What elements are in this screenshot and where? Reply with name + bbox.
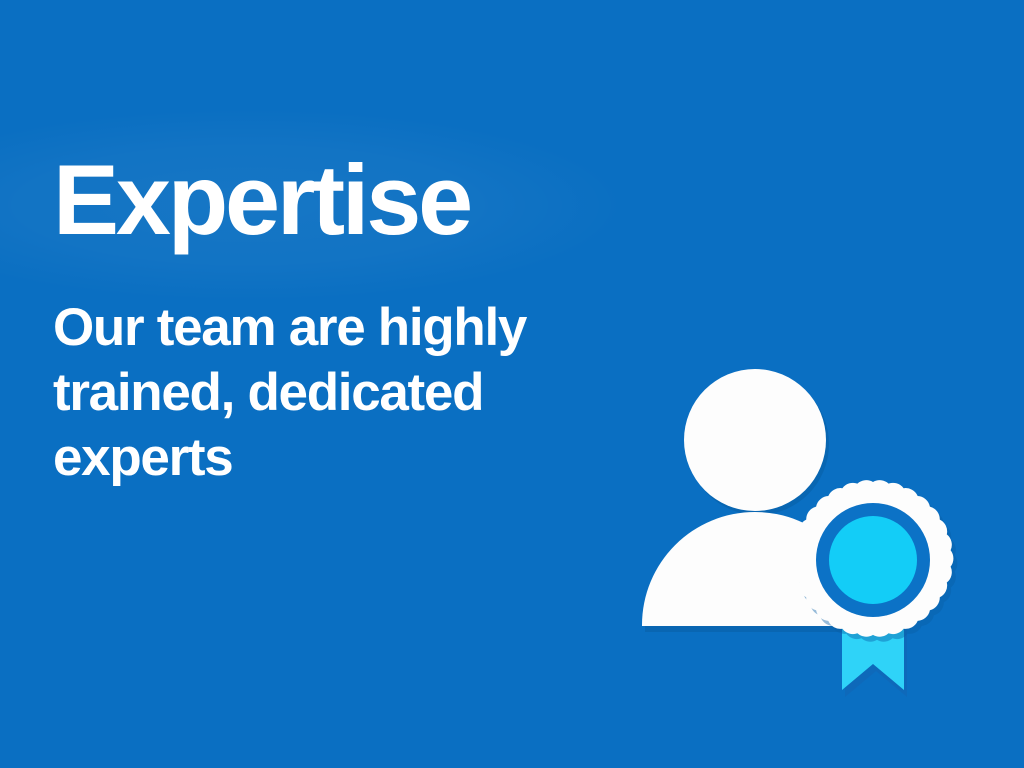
text-block: Expertise Our team are highly trained, d…: [53, 150, 673, 490]
subtitle: Our team are highly trained, dedicated e…: [53, 249, 643, 490]
subtitle-line-2: trained, dedicated: [53, 360, 643, 425]
badge-center-disc: [829, 516, 917, 604]
subtitle-line-1: Our team are highly: [53, 295, 643, 360]
award-badge: [793, 480, 958, 697]
page-title: Expertise: [53, 150, 673, 249]
slide-canvas: Expertise Our team are highly trained, d…: [0, 0, 1024, 768]
subtitle-line-3: experts: [53, 425, 643, 490]
expert-person-with-award-badge-icon: [620, 350, 980, 710]
person-head-circle: [684, 369, 826, 511]
